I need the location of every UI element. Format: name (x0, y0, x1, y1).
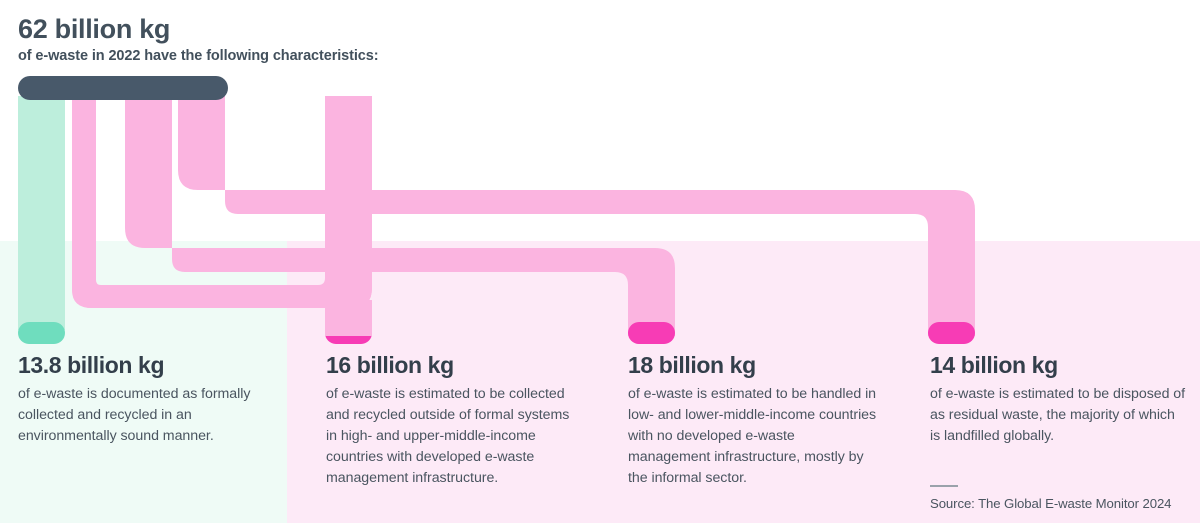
header: 62 billion kg of e-waste in 2022 have th… (18, 14, 718, 64)
flow-cap-low-income (628, 322, 675, 344)
stat-column-residual-waste: 14 billion kg of e-waste is estimated to… (930, 352, 1186, 447)
flow-ribbon-documented (18, 96, 65, 344)
stat-value: 13.8 billion kg (18, 352, 258, 380)
stat-value: 14 billion kg (930, 352, 1186, 380)
source-divider (930, 485, 958, 487)
flow-cap-documented (18, 322, 65, 344)
total-bar (18, 76, 228, 100)
source-block: Source: The Global E-waste Monitor 2024 (930, 485, 1190, 511)
infographic-canvas: 62 billion kg of e-waste in 2022 have th… (0, 0, 1200, 523)
stat-column-documented: 13.8 billion kg of e-waste is documented… (18, 352, 258, 447)
page-title: 62 billion kg (18, 14, 718, 46)
stat-description: of e-waste is documented as formally col… (18, 384, 258, 447)
stat-description: of e-waste is estimated to be handled in… (628, 384, 878, 489)
stat-value: 16 billion kg (326, 352, 576, 380)
stat-value: 18 billion kg (628, 352, 878, 380)
stat-description: of e-waste is estimated to be collected … (326, 384, 576, 489)
stat-description: of e-waste is estimated to be disposed o… (930, 384, 1186, 447)
flow-cap-residual-waste (928, 322, 975, 344)
stat-column-informal-collected: 16 billion kg of e-waste is estimated to… (326, 352, 576, 489)
stat-column-low-income: 18 billion kg of e-waste is estimated to… (628, 352, 878, 489)
source-text: Source: The Global E-waste Monitor 2024 (930, 496, 1190, 511)
page-subtitle: of e-waste in 2022 have the following ch… (18, 48, 718, 64)
